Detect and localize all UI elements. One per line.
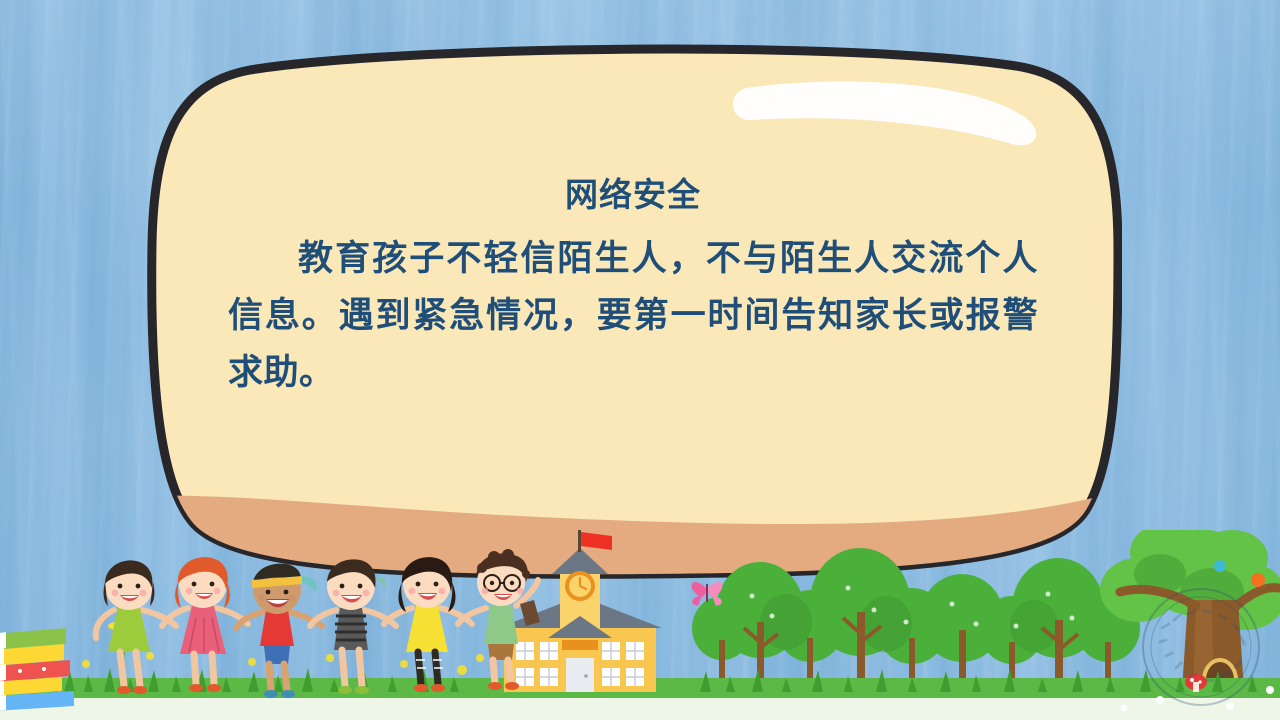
school-flag	[581, 532, 612, 550]
tree-row	[692, 548, 1140, 692]
foreground-scene-art	[0, 530, 1280, 720]
foreground-scene	[0, 530, 1280, 720]
book-stack	[0, 628, 74, 711]
school-sign	[562, 640, 598, 650]
school-door	[566, 658, 594, 692]
slide-canvas: 网络安全 教育孩子不轻信陌生人，不与陌生人交流个人信息。遇到紧急情况，要第一时间…	[0, 0, 1280, 720]
children-group	[96, 549, 540, 698]
speech-bubble: 网络安全 教育孩子不轻信陌生人，不与陌生人交流个人信息。遇到紧急情况，要第一时间…	[146, 44, 1122, 582]
body-paragraph: 教育孩子不轻信陌生人，不与陌生人交流个人信息。遇到紧急情况，要第一时间告知家长或…	[228, 231, 1038, 401]
page-title: 网络安全	[228, 174, 1038, 215]
flagpole	[578, 530, 581, 552]
bubble-text-block: 网络安全 教育孩子不轻信陌生人，不与陌生人交流个人信息。遇到紧急情况，要第一时间…	[228, 174, 1038, 401]
